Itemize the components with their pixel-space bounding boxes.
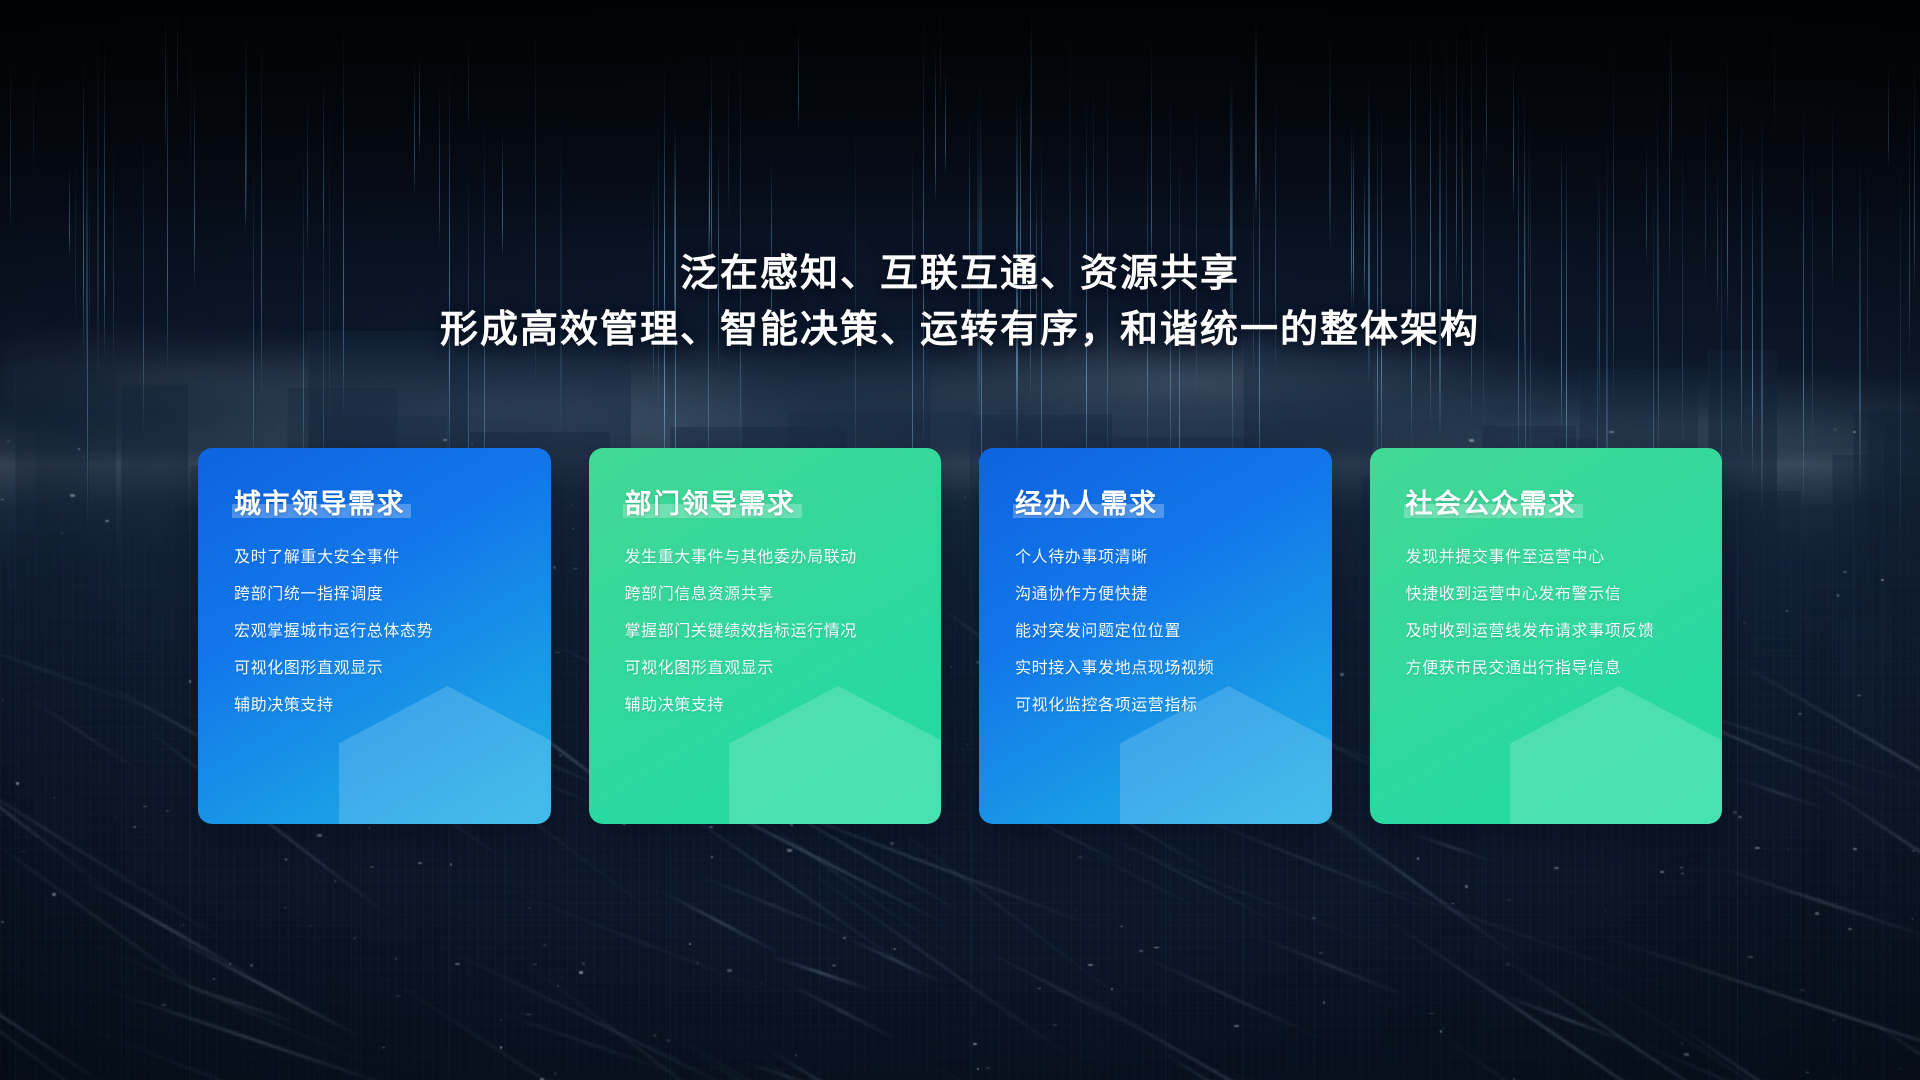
headline-block: 泛在感知、互联互通、资源共享 形成高效管理、智能决策、运转有序，和谐统一的整体架… — [0, 246, 1920, 358]
list-item: 辅助决策支持 — [234, 698, 551, 714]
list-item: 能对突发问题定位位置 — [1015, 624, 1332, 640]
card-title: 城市领导需求 — [234, 490, 405, 520]
list-item: 跨部门统一指挥调度 — [234, 587, 551, 603]
card-department-leader[interactable]: 部门领导需求发生重大事件与其他委办局联动跨部门信息资源共享掌握部门关键绩效指标运… — [589, 448, 942, 824]
list-item: 个人待办事项清晰 — [1015, 550, 1332, 566]
list-item: 可视化图形直观显示 — [234, 661, 551, 677]
list-item: 跨部门信息资源共享 — [625, 587, 942, 603]
card-title-wrap: 经办人需求 — [1015, 490, 1158, 520]
card-item-list: 个人待办事项清晰沟通协作方便快捷能对突发问题定位位置实时接入事发地点现场视频可视… — [1015, 550, 1332, 714]
list-item: 方便获市民交通出行指导信息 — [1406, 661, 1723, 677]
card-title-wrap: 部门领导需求 — [625, 490, 796, 520]
list-item: 宏观掌握城市运行总体态势 — [234, 624, 551, 640]
list-item: 实时接入事发地点现场视频 — [1015, 661, 1332, 677]
list-item: 及时了解重大安全事件 — [234, 550, 551, 566]
card-item-list: 发生重大事件与其他委办局联动跨部门信息资源共享掌握部门关键绩效指标运行情况可视化… — [625, 550, 942, 714]
list-item: 掌握部门关键绩效指标运行情况 — [625, 624, 942, 640]
card-item-list: 及时了解重大安全事件跨部门统一指挥调度宏观掌握城市运行总体态势可视化图形直观显示… — [234, 550, 551, 714]
card-title: 经办人需求 — [1015, 490, 1158, 520]
requirement-cards-row: 城市领导需求及时了解重大安全事件跨部门统一指挥调度宏观掌握城市运行总体态势可视化… — [198, 448, 1722, 824]
headline-line-2: 形成高效管理、智能决策、运转有序，和谐统一的整体架构 — [0, 302, 1920, 358]
card-title-wrap: 社会公众需求 — [1406, 490, 1577, 520]
list-item: 辅助决策支持 — [625, 698, 942, 714]
card-operator[interactable]: 经办人需求个人待办事项清晰沟通协作方便快捷能对突发问题定位位置实时接入事发地点现… — [979, 448, 1332, 824]
headline-line-1: 泛在感知、互联互通、资源共享 — [0, 246, 1920, 302]
list-item: 发现并提交事件至运营中心 — [1406, 550, 1723, 566]
page-root: 泛在感知、互联互通、资源共享 形成高效管理、智能决策、运转有序，和谐统一的整体架… — [0, 0, 1920, 1080]
chevron-decoration-icon — [1510, 686, 1722, 824]
list-item: 发生重大事件与其他委办局联动 — [625, 550, 942, 566]
card-title: 社会公众需求 — [1406, 490, 1577, 520]
card-item-list: 发现并提交事件至运营中心快捷收到运营中心发布警示信及时收到运营线发布请求事项反馈… — [1406, 550, 1723, 677]
list-item: 快捷收到运营中心发布警示信 — [1406, 587, 1723, 603]
card-public[interactable]: 社会公众需求发现并提交事件至运营中心快捷收到运营中心发布警示信及时收到运营线发布… — [1370, 448, 1723, 824]
card-title: 部门领导需求 — [625, 490, 796, 520]
card-city-leader[interactable]: 城市领导需求及时了解重大安全事件跨部门统一指挥调度宏观掌握城市运行总体态势可视化… — [198, 448, 551, 824]
list-item: 沟通协作方便快捷 — [1015, 587, 1332, 603]
card-title-wrap: 城市领导需求 — [234, 490, 405, 520]
list-item: 及时收到运营线发布请求事项反馈 — [1406, 624, 1723, 640]
list-item: 可视化图形直观显示 — [625, 661, 942, 677]
list-item: 可视化监控各项运营指标 — [1015, 698, 1332, 714]
